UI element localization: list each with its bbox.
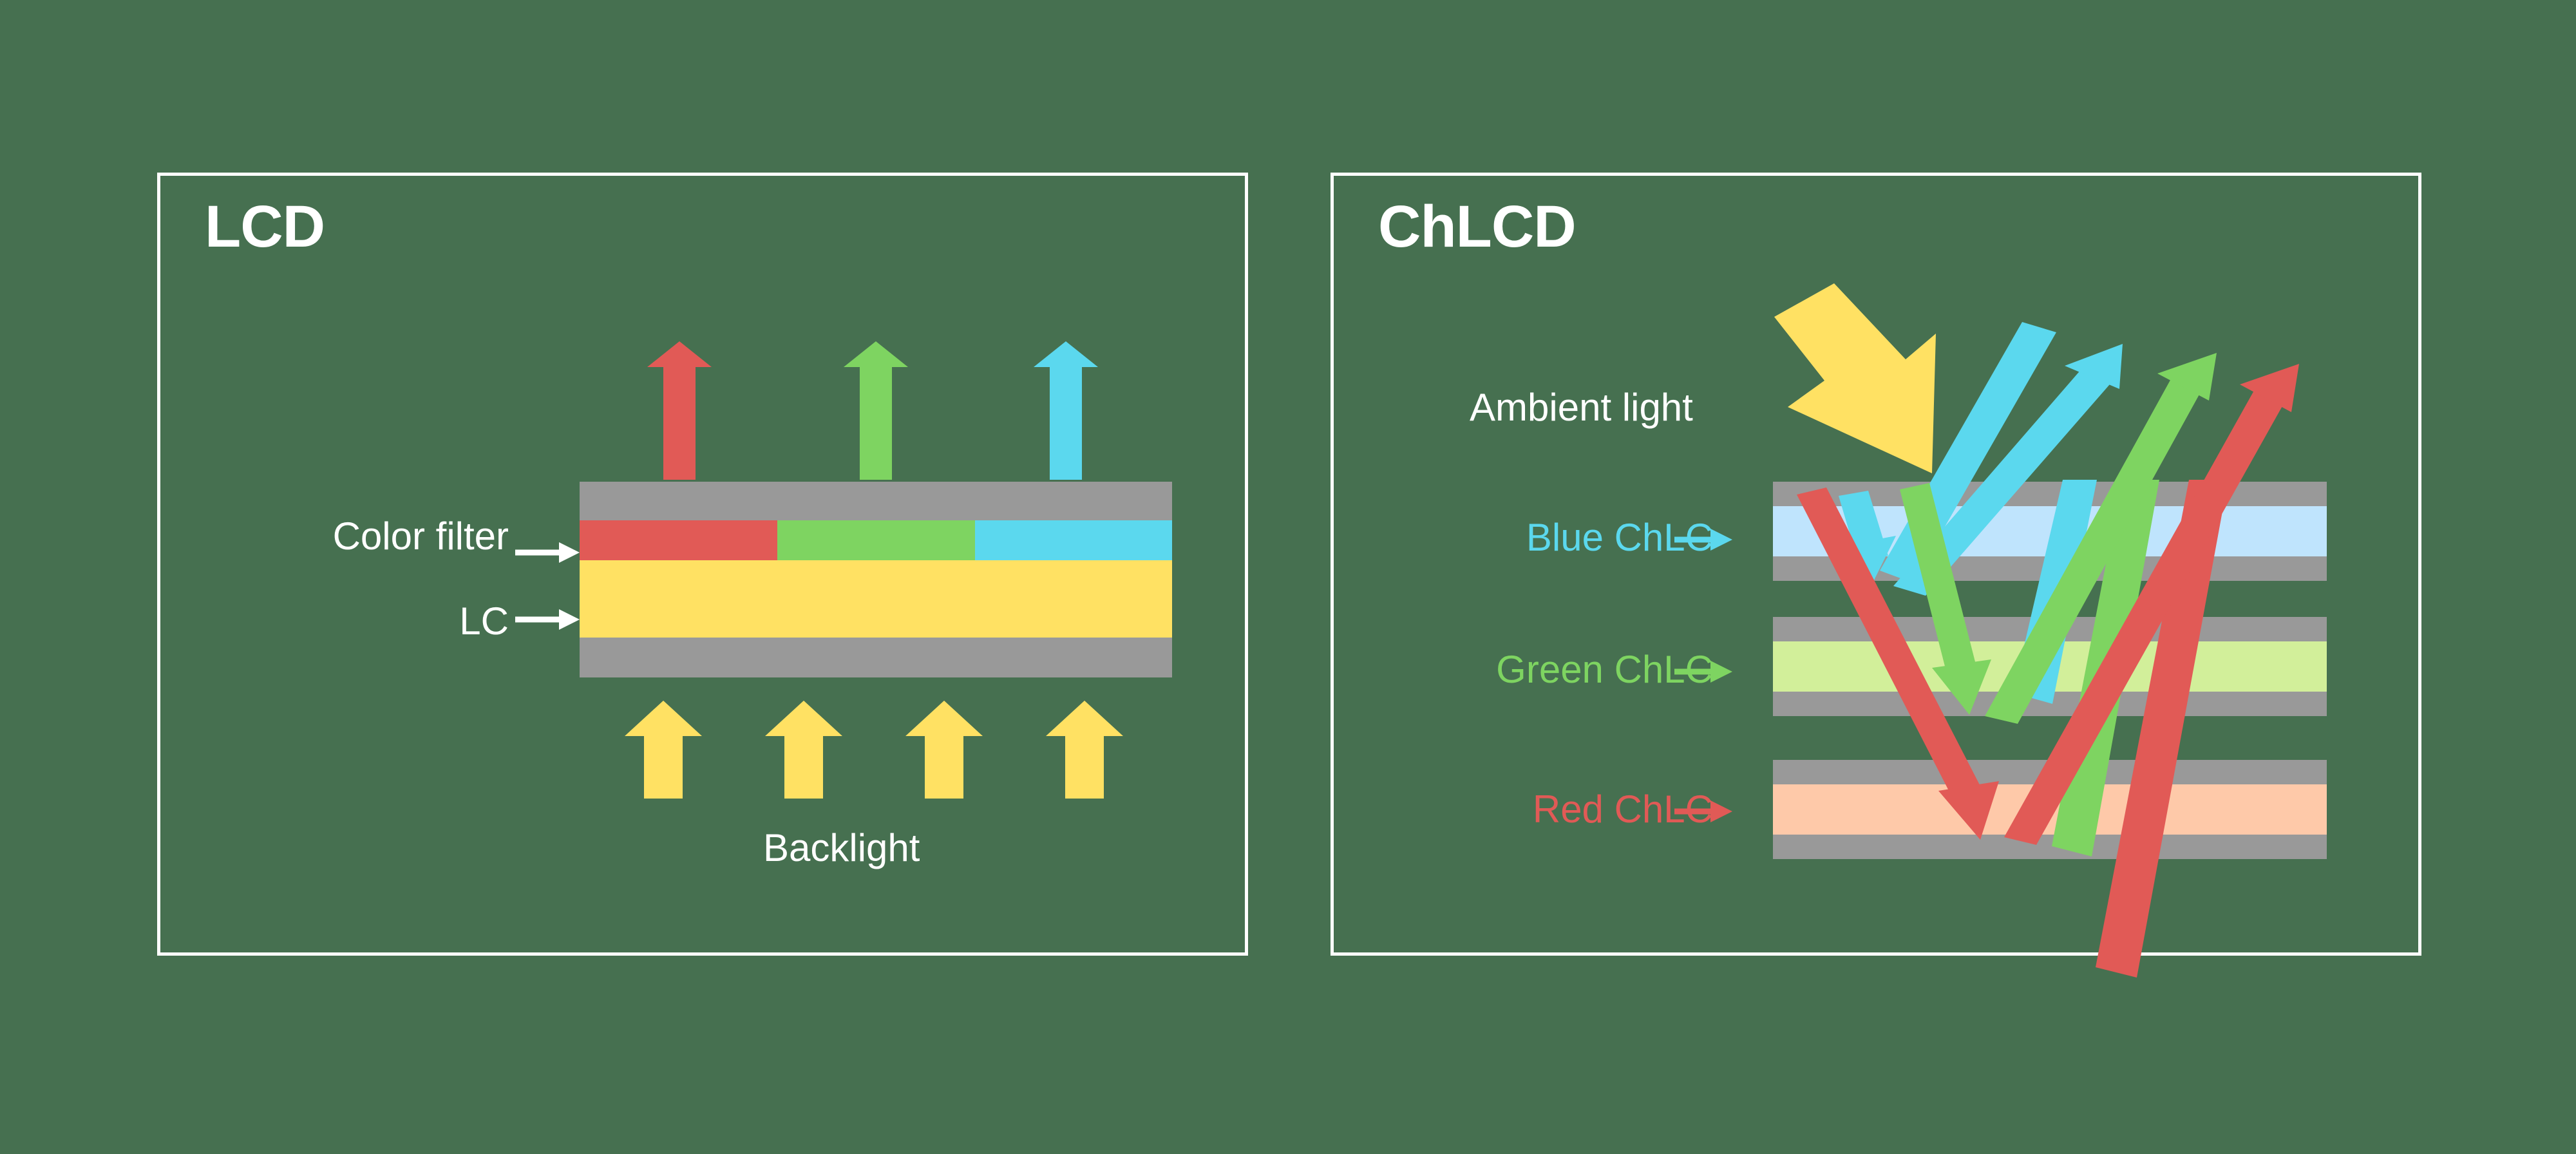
chlcd-red-layer: [1773, 784, 2327, 835]
label-ambient-light: Ambient light: [1470, 385, 1693, 430]
chlcd-red-group: [1773, 760, 2327, 859]
label-lc: LC: [193, 599, 509, 643]
lcd-layer-stack: [580, 482, 1172, 681]
lcd-color-filter-red: [580, 520, 777, 560]
chlcd-blue-glass-top: [1773, 482, 2327, 506]
lcd-color-filter-green: [777, 520, 975, 560]
chlcd-red-glass-bottom: [1773, 835, 2327, 859]
label-red-chlc: Red ChLC: [1365, 787, 1713, 831]
lcd-glass-top: [580, 482, 1172, 520]
lcd-color-filter: [580, 520, 1172, 560]
chlcd-green-glass-top: [1773, 617, 2327, 641]
diagram-canvas: LCD Color filter LC Backlight ChLCD Ambi…: [0, 0, 2576, 1154]
lcd-color-filter-blue: [975, 520, 1172, 560]
label-backlight: Backlight: [763, 826, 920, 870]
chlcd-layer-stack: [1773, 482, 2327, 873]
panel-chlcd-title: ChLCD: [1378, 193, 1576, 261]
chlcd-green-layer: [1773, 641, 2327, 692]
chlcd-green-group: [1773, 617, 2327, 716]
lcd-glass-bottom: [580, 638, 1172, 677]
chlcd-blue-group: [1773, 482, 2327, 581]
chlcd-blue-glass-bottom: [1773, 556, 2327, 581]
label-color-filter: Color filter: [193, 514, 509, 558]
label-green-chlc: Green ChLC: [1365, 647, 1713, 692]
chlcd-green-glass-bottom: [1773, 692, 2327, 716]
chlcd-red-glass-top: [1773, 760, 2327, 784]
lcd-liquid-crystal: [580, 560, 1172, 638]
label-blue-chlc: Blue ChLC: [1365, 515, 1713, 560]
panel-lcd-title: LCD: [205, 193, 325, 261]
chlcd-blue-layer: [1773, 506, 2327, 556]
